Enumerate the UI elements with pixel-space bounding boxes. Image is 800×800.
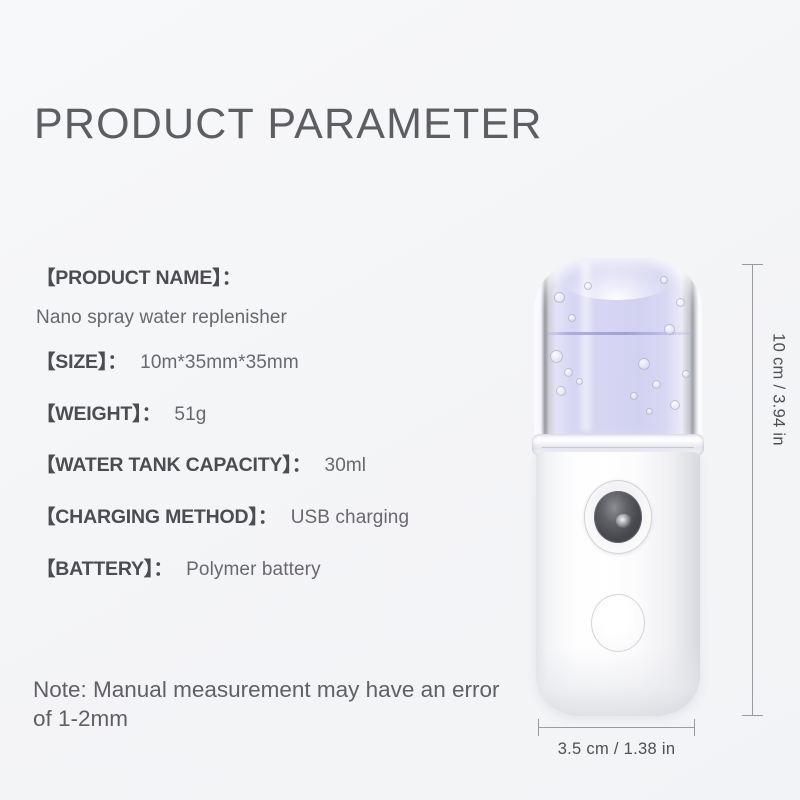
dimension-line-vertical bbox=[752, 264, 753, 716]
specification-list: 【PRODUCT NAME】： Nano spray water repleni… bbox=[36, 265, 506, 607]
body-bottom-shading bbox=[536, 646, 700, 716]
water-droplet-icon bbox=[584, 282, 592, 290]
dimension-line-horizontal bbox=[538, 727, 695, 728]
spec-label-battery: 【BATTERY】： bbox=[36, 558, 173, 580]
spec-row-water-tank-capacity: 【WATER TANK CAPACITY】： 30ml bbox=[36, 452, 506, 479]
spec-label-size: 【SIZE】： bbox=[36, 351, 127, 373]
water-droplet-icon bbox=[676, 298, 685, 307]
nozzle-highlight bbox=[616, 514, 632, 528]
spec-label-water-tank-capacity: 【WATER TANK CAPACITY】： bbox=[36, 454, 311, 476]
dimension-label-height: 10 cm / 3.94 in bbox=[769, 320, 788, 460]
water-droplet-icon bbox=[630, 392, 638, 400]
water-droplet-icon bbox=[576, 378, 583, 385]
spec-row-weight: 【WEIGHT】： 51g bbox=[36, 401, 506, 428]
product-image bbox=[522, 258, 714, 718]
water-droplet-icon bbox=[568, 314, 576, 322]
water-droplet-icon bbox=[638, 358, 650, 370]
dimension-cap-left bbox=[538, 719, 539, 736]
water-droplet-icon bbox=[564, 368, 573, 377]
dimension-cap-right bbox=[694, 719, 695, 736]
page-title: PRODUCT PARAMETER bbox=[34, 103, 543, 146]
spec-label-weight: 【WEIGHT】： bbox=[36, 403, 161, 425]
dimension-cap-bottom bbox=[742, 715, 763, 716]
water-droplet-icon bbox=[550, 350, 563, 363]
water-droplet-icon bbox=[556, 386, 566, 396]
spec-row-battery: 【BATTERY】： Polymer battery bbox=[36, 556, 506, 583]
dimension-label-width: 3.5 cm / 1.38 in bbox=[538, 740, 695, 759]
spec-value-size: 10m*35mm*35mm bbox=[140, 352, 299, 373]
transparent-water-tank-cap bbox=[534, 258, 702, 438]
spec-value-water-tank-capacity: 30ml bbox=[325, 455, 367, 476]
dimension-cap-top bbox=[742, 264, 763, 265]
cap-ring-seam bbox=[542, 447, 693, 448]
spec-row-product-name: 【PRODUCT NAME】： Nano spray water repleni… bbox=[36, 265, 506, 331]
spec-value-battery: Polymer battery bbox=[186, 559, 321, 580]
water-droplet-icon bbox=[664, 324, 675, 335]
spec-label-product-name: 【PRODUCT NAME】： bbox=[36, 267, 241, 289]
spec-row-charging-method: 【CHARGING METHOD】： USB charging bbox=[36, 504, 506, 531]
water-droplet-icon bbox=[652, 380, 661, 389]
water-droplet-icon bbox=[646, 408, 653, 415]
measurement-note: Note: Manual measurement may have an err… bbox=[33, 676, 503, 734]
nozzle-recess bbox=[584, 480, 652, 554]
product-parameter-page: PRODUCT PARAMETER 【PRODUCT NAME】： Nano s… bbox=[0, 0, 800, 800]
water-droplet-icon bbox=[554, 292, 565, 303]
device-body bbox=[536, 452, 700, 716]
spray-nozzle-icon bbox=[594, 491, 642, 543]
spec-value-product-name: Nano spray water replenisher bbox=[36, 305, 506, 331]
spec-value-charging-method: USB charging bbox=[291, 507, 409, 528]
water-droplet-icon bbox=[670, 400, 680, 410]
spec-label-charging-method: 【CHARGING METHOD】： bbox=[36, 506, 277, 528]
spec-value-weight: 51g bbox=[174, 404, 206, 425]
spec-row-size: 【SIZE】： 10m*35mm*35mm bbox=[36, 349, 506, 376]
water-droplet-icon bbox=[682, 370, 690, 378]
water-droplet-icon bbox=[660, 276, 668, 284]
power-button[interactable] bbox=[591, 594, 645, 652]
